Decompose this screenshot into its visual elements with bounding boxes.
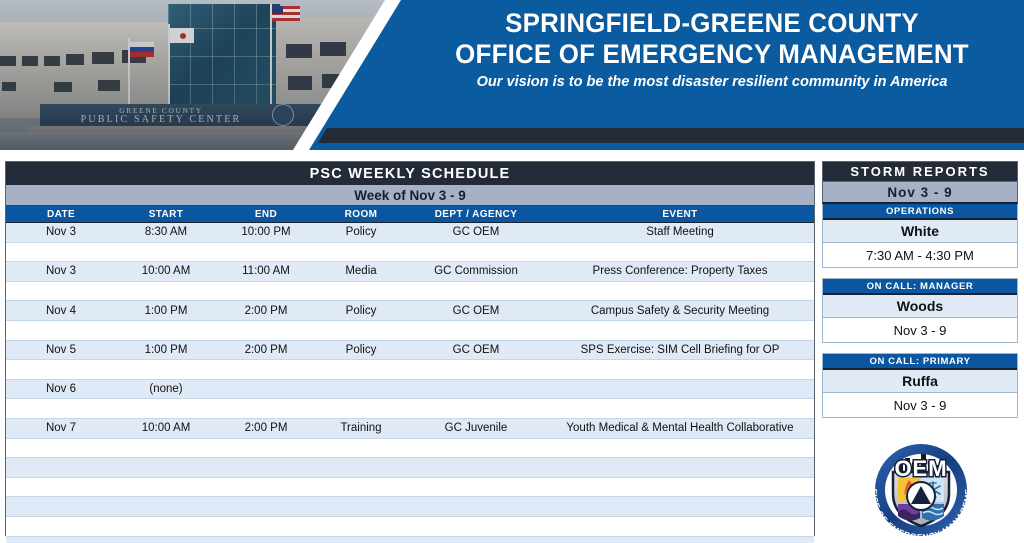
cell-date: Nov 5 xyxy=(6,344,116,356)
cell-event: Staff Meeting xyxy=(546,226,814,238)
storm-block-name: Woods xyxy=(823,295,1017,318)
table-row[interactable] xyxy=(6,399,814,419)
table-row[interactable]: Nov 41:00 PM2:00 PMPolicyGC OEMCampus Sa… xyxy=(6,301,814,321)
table-row[interactable] xyxy=(6,478,814,498)
column-header-date: DATE xyxy=(6,209,116,220)
table-row[interactable] xyxy=(6,360,814,380)
cell-dept: GC OEM xyxy=(406,305,546,317)
storm-reports-date-range: Nov 3 - 9 xyxy=(822,182,1018,204)
storm-reports-title: STORM REPORTS xyxy=(822,161,1018,182)
cell-start: 8:30 AM xyxy=(116,226,216,238)
storm-block-label: ON CALL: MANAGER xyxy=(823,279,1017,295)
cell-end: 2:00 PM xyxy=(216,422,316,434)
cell-room: Policy xyxy=(316,226,406,238)
table-row[interactable]: Nov 310:00 AM11:00 AMMediaGC CommissionP… xyxy=(6,262,814,282)
psc-weekly-schedule-table: PSC WEEKLY SCHEDULE Week of Nov 3 - 9 DA… xyxy=(5,161,815,536)
table-row[interactable]: Nov 710:00 AM2:00 PMTrainingGC JuvenileY… xyxy=(6,419,814,439)
table-row[interactable]: Nov 6(none) xyxy=(6,380,814,400)
cell-end: 2:00 PM xyxy=(216,305,316,317)
schedule-body: Nov 38:30 AM10:00 PMPolicyGC OEMStaff Me… xyxy=(6,223,814,543)
oem-logo: SPRINGFIELD - GREENE COUNTY OFFICE OF EM… xyxy=(857,432,985,540)
storm-block-label: ON CALL: PRIMARY xyxy=(823,354,1017,370)
storm-block-value: Nov 3 - 9 xyxy=(823,318,1017,342)
cell-start: 1:00 PM xyxy=(116,305,216,317)
storm-block-label: OPERATIONS xyxy=(823,204,1017,220)
cell-event: Youth Medical & Mental Health Collaborat… xyxy=(546,422,814,434)
column-header-dept: DEPT / AGENCY xyxy=(406,209,546,220)
table-row[interactable] xyxy=(6,321,814,341)
schedule-title: PSC WEEKLY SCHEDULE xyxy=(6,162,814,185)
table-row[interactable]: Nov 38:30 AM10:00 PMPolicyGC OEMStaff Me… xyxy=(6,223,814,243)
storm-block: ON CALL: PRIMARYRuffaNov 3 - 9 xyxy=(822,353,1018,418)
cell-end: 2:00 PM xyxy=(216,344,316,356)
cell-dept: GC OEM xyxy=(406,344,546,356)
table-row[interactable] xyxy=(6,282,814,302)
table-row[interactable] xyxy=(6,517,814,537)
storm-reports-blocks: OPERATIONSWhite7:30 AM - 4:30 PMON CALL:… xyxy=(822,204,1018,418)
column-header-event: EVENT xyxy=(546,209,814,220)
cell-room: Policy xyxy=(316,305,406,317)
cell-start: (none) xyxy=(116,383,216,395)
cell-dept: GC Commission xyxy=(406,265,546,277)
svg-text:OEM: OEM xyxy=(894,456,947,481)
cell-room: Media xyxy=(316,265,406,277)
storm-block-name: White xyxy=(823,220,1017,243)
cell-start: 10:00 AM xyxy=(116,422,216,434)
cell-start: 10:00 AM xyxy=(116,265,216,277)
cell-end: 10:00 PM xyxy=(216,226,316,238)
table-row[interactable] xyxy=(6,243,814,263)
cell-dept: GC OEM xyxy=(406,226,546,238)
logo-oem-text: OEM xyxy=(894,456,947,481)
cell-event: Press Conference: Property Taxes xyxy=(546,265,814,277)
cell-date: Nov 4 xyxy=(6,305,116,317)
cell-date: Nov 7 xyxy=(6,422,116,434)
storm-block-value: 7:30 AM - 4:30 PM xyxy=(823,243,1017,267)
cell-room: Training xyxy=(316,422,406,434)
vision-statement: Our vision is to be the most disaster re… xyxy=(409,70,1014,94)
table-row[interactable] xyxy=(6,537,814,543)
cell-dept: GC Juvenile xyxy=(406,422,546,434)
table-row[interactable] xyxy=(6,497,814,517)
storm-block: OPERATIONSWhite7:30 AM - 4:30 PM xyxy=(822,204,1018,268)
oem-dashboard-page: GREENE COUNTY PUBLIC SAFETY CENTER SPRIN… xyxy=(0,0,1024,543)
storm-block-value: Nov 3 - 9 xyxy=(823,393,1017,417)
cell-event: SPS Exercise: SIM Cell Briefing for OP xyxy=(546,344,814,356)
column-header-room: ROOM xyxy=(316,209,406,220)
column-header-end: END xyxy=(216,209,316,220)
storm-block: ON CALL: MANAGERWoodsNov 3 - 9 xyxy=(822,278,1018,343)
page-header-banner: GREENE COUNTY PUBLIC SAFETY CENTER SPRIN… xyxy=(0,0,1024,150)
cell-room: Policy xyxy=(316,344,406,356)
header-title-block: SPRINGFIELD-GREENE COUNTY OFFICE OF EMER… xyxy=(400,8,1024,94)
org-name-line1: SPRINGFIELD-GREENE COUNTY xyxy=(412,8,1011,39)
column-header-start: START xyxy=(116,209,216,220)
cell-date: Nov 3 xyxy=(6,226,116,238)
schedule-column-header-row: DATE START END ROOM DEPT / AGENCY EVENT xyxy=(6,206,814,223)
storm-block-name: Ruffa xyxy=(823,370,1017,393)
table-row[interactable] xyxy=(6,458,814,478)
cell-event: Campus Safety & Security Meeting xyxy=(546,305,814,317)
cell-date: Nov 3 xyxy=(6,265,116,277)
table-row[interactable] xyxy=(6,439,814,459)
storm-reports-panel: STORM REPORTS Nov 3 - 9 OPERATIONSWhite7… xyxy=(822,161,1018,418)
cell-start: 1:00 PM xyxy=(116,344,216,356)
cell-end: 11:00 AM xyxy=(216,265,316,277)
org-name-line2: OFFICE OF EMERGENCY MANAGEMENT xyxy=(412,39,1011,70)
cell-date: Nov 6 xyxy=(6,383,116,395)
table-row[interactable]: Nov 51:00 PM2:00 PMPolicyGC OEMSPS Exerc… xyxy=(6,341,814,361)
schedule-week-subtitle: Week of Nov 3 - 9 xyxy=(6,185,814,206)
